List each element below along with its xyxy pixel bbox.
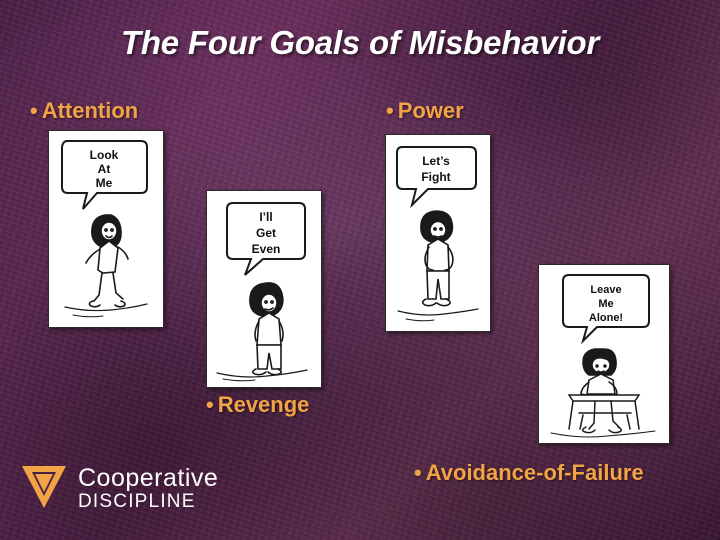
bubble-line-1: I’ll bbox=[259, 210, 272, 224]
bubble-line-2: Me bbox=[598, 298, 613, 310]
bubble-line-1: Let’s bbox=[422, 154, 450, 168]
goal-label-attention-text: Attention bbox=[42, 98, 139, 123]
bubble-line-3: Even bbox=[252, 242, 281, 256]
cartoon-panel-attention: Look At Me bbox=[48, 130, 164, 328]
cartoon-panel-power: Let’s Fight bbox=[385, 134, 491, 332]
goal-label-revenge: •Revenge bbox=[206, 392, 309, 418]
bubble-line-2: Get bbox=[256, 226, 276, 240]
logo-line-cooperative: Cooperative bbox=[78, 466, 218, 491]
logo: Cooperative DISCIPLINE bbox=[18, 462, 218, 516]
page-title: The Four Goals of Misbehavior bbox=[0, 24, 720, 62]
goal-label-power-text: Power bbox=[398, 98, 464, 123]
bullet-power: • bbox=[386, 98, 394, 123]
bubble-line-3: Alone! bbox=[589, 312, 623, 324]
logo-line-discipline: DISCIPLINE bbox=[78, 492, 218, 512]
goal-label-power: •Power bbox=[386, 98, 464, 124]
goal-label-attention: •Attention bbox=[30, 98, 138, 124]
cartoon-panel-avoidance: Leave Me Alone! bbox=[538, 264, 670, 444]
bullet-attention: • bbox=[30, 98, 38, 123]
bubble-line-2: Fight bbox=[421, 170, 450, 184]
bubble-line-1: Look bbox=[90, 148, 119, 162]
bullet-avoidance: • bbox=[414, 460, 422, 485]
triangle-logo-icon bbox=[18, 462, 70, 516]
goal-label-avoidance-text: Avoidance-of-Failure bbox=[426, 460, 644, 485]
slide-canvas: The Four Goals of Misbehavior •Attention… bbox=[0, 0, 720, 540]
goal-label-avoidance: •Avoidance-of-Failure bbox=[414, 460, 664, 486]
bubble-line-1: Leave bbox=[590, 284, 621, 296]
goal-label-revenge-text: Revenge bbox=[218, 392, 310, 417]
bubble-line-2: At bbox=[98, 162, 111, 176]
logo-text: Cooperative DISCIPLINE bbox=[78, 466, 218, 512]
cartoon-panel-revenge: I’ll Get Even bbox=[206, 190, 322, 388]
bullet-revenge: • bbox=[206, 392, 214, 417]
bubble-line-3: Me bbox=[96, 176, 113, 190]
